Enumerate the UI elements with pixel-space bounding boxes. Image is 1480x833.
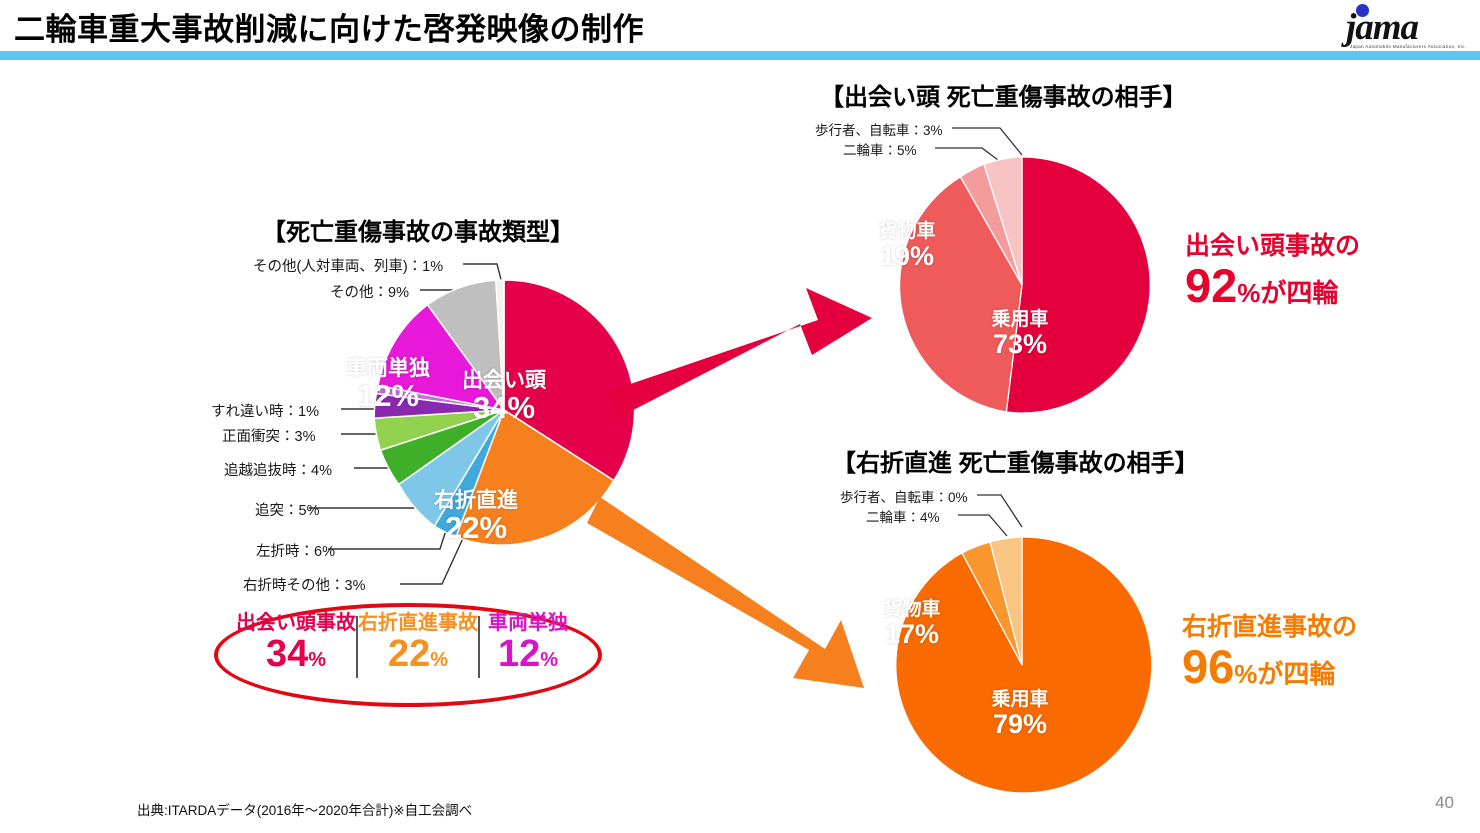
chart-title-head-on: 【出会い頭 死亡重傷事故の相手】 [820, 77, 1187, 112]
slice-label-kamotsusha-red: 貨物車 19% [860, 222, 954, 270]
orange-arrow [587, 497, 864, 688]
leader-label-usetsuji-sonota: 右折時その他：3% [243, 574, 365, 595]
leader-label-surechigai: すれ違い時：1% [211, 400, 319, 421]
slice-jouyousha-orange [896, 537, 1152, 793]
leader-label-nirinsha-orange: 二輪車：4% [866, 506, 940, 526]
leader-label-shomen-shototsu: 正面衝突：3% [222, 425, 315, 446]
leader-label-sonota-hito: その他(人対車両、列車)：1% [253, 255, 443, 276]
red-arrow [607, 288, 872, 420]
summary-cell-deai-gashira: 出会い頭事故 34% [236, 612, 356, 673]
slice-label-sharyo-tandoku: 車両単独 12% [333, 358, 443, 413]
summary-cell-usetsu-chokushin: 右折直進事故 22% [358, 612, 478, 673]
slice-label-kamotsusha-orange: 貨物車 17% [865, 600, 959, 648]
slide: 二輪車重大事故削減に向けた啓発映像の制作 jama Japan Automobi… [0, 0, 1480, 833]
slice-label-deai-gashira: 出会い頭 34% [444, 370, 564, 425]
slice-label-jouyousha-red: 乗用車 73% [973, 310, 1067, 358]
leader-label-oikoshi: 追越追抜時：4% [224, 459, 332, 480]
leader-label-tsuitotsu: 追突：5% [255, 499, 319, 520]
leader-lines-bottom-right [958, 495, 1022, 536]
summary-row: 出会い頭事故 34% 右折直進事故 22% 車両単独 12% [236, 612, 576, 692]
leader-label-sonota: その他：9% [330, 281, 409, 302]
summary-cell-sharyo-tandoku: 車両単独 12% [480, 612, 576, 673]
callout-right-turn: 右折直進事故の 96%が四輪 [1182, 613, 1357, 691]
right-turn-counterpart-slices [896, 537, 1152, 793]
chart-title-right-turn: 【右折直進 死亡重傷事故の相手】 [832, 443, 1199, 478]
leader-label-hokousha-orange: 歩行者、自転車：0% [840, 486, 968, 506]
leader-label-nirinsha-red: 二輪車：5% [843, 139, 917, 159]
page-number: 40 [1435, 793, 1454, 813]
source-note: 出典:ITARDAデータ(2016年～2020年合計)※自工会調べ [137, 799, 472, 819]
slice-label-usetsu-chokushin: 右折直進 22% [416, 490, 536, 545]
leader-label-sasetsuji: 左折時：6% [256, 540, 335, 561]
slice-label-jouyousha-orange: 乗用車 79% [973, 690, 1067, 738]
callout-head-on: 出会い頭事故の 92%が四輪 [1185, 232, 1360, 310]
leader-label-hokousha-red: 歩行者、自転車：3% [815, 119, 943, 139]
head-on-counterpart-slices [900, 157, 1151, 413]
slice-jouyousha-red [1006, 157, 1150, 413]
